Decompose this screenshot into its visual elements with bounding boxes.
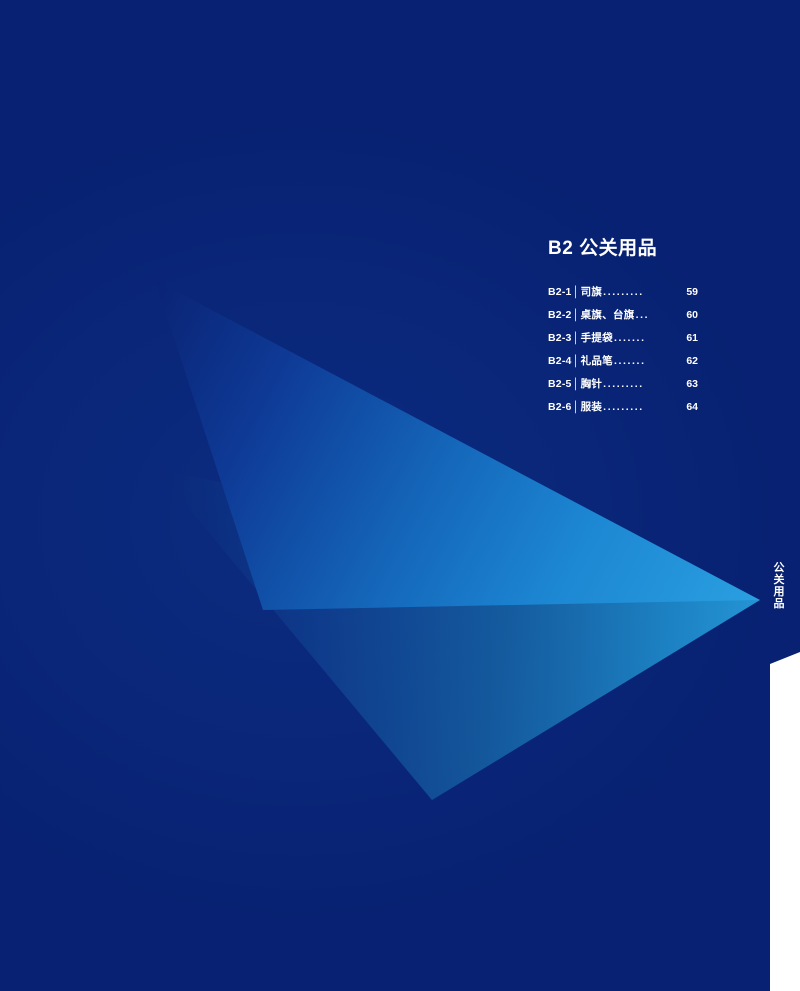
toc-entry-separator: │ <box>572 402 581 413</box>
toc-entry[interactable]: B2-6 │ 服装 ......... 64 <box>548 402 698 425</box>
side-tab-char: 关 <box>771 575 787 587</box>
toc-entry-code: B2-5 <box>548 379 572 390</box>
toc-entry-leader: ......... <box>603 379 685 390</box>
toc-entry-separator: │ <box>572 333 581 344</box>
table-of-contents: B2 公关用品 B2-1 │ 司旗 ......... 59 B2-2 │ 桌旗… <box>548 238 698 425</box>
toc-entry-separator: │ <box>572 310 581 321</box>
toc-entry[interactable]: B2-1 │ 司旗 ......... 59 <box>548 287 698 310</box>
toc-entry-separator: │ <box>572 356 581 367</box>
toc-entry-name: 桌旗、台旗 <box>581 310 635 321</box>
toc-entry[interactable]: B2-3 │ 手提袋 ....... 61 <box>548 333 698 356</box>
toc-entry[interactable]: B2-4 │ 礼品笔 ....... 62 <box>548 356 698 379</box>
toc-entry[interactable]: B2-2 │ 桌旗、台旗 ... 60 <box>548 310 698 333</box>
navy-background-panel <box>0 0 800 991</box>
toc-entry-name: 服装 <box>581 402 603 413</box>
toc-entry-code: B2-4 <box>548 356 572 367</box>
side-tab-char: 品 <box>771 599 787 611</box>
toc-entry-name: 司旗 <box>581 287 603 298</box>
toc-list: B2-1 │ 司旗 ......... 59 B2-2 │ 桌旗、台旗 ... … <box>548 287 698 425</box>
toc-entry-page: 62 <box>686 356 698 367</box>
section-divider-page: B2 公关用品 B2-1 │ 司旗 ......... 59 B2-2 │ 桌旗… <box>0 0 800 991</box>
toc-entry-leader: ... <box>636 310 686 321</box>
toc-entry-page: 59 <box>686 287 698 298</box>
toc-entry-code: B2-6 <box>548 402 572 413</box>
toc-entry-leader: ......... <box>603 402 685 413</box>
toc-entry-separator: │ <box>572 379 581 390</box>
toc-entry-name: 礼品笔 <box>581 356 613 367</box>
toc-entry-code: B2-1 <box>548 287 572 298</box>
toc-entry-code: B2-3 <box>548 333 572 344</box>
toc-entry-page: 60 <box>686 310 698 321</box>
toc-entry-leader: ....... <box>614 333 685 344</box>
toc-entry-separator: │ <box>572 287 581 298</box>
toc-entry-name: 胸针 <box>581 379 603 390</box>
page-title: B2 公关用品 <box>548 238 698 261</box>
toc-entry-page: 64 <box>686 402 698 413</box>
side-tab-char: 用 <box>771 587 787 599</box>
toc-entry-page: 63 <box>686 379 698 390</box>
toc-entry-leader: ......... <box>603 287 685 298</box>
toc-entry-page: 61 <box>686 333 698 344</box>
toc-entry-name: 手提袋 <box>581 333 613 344</box>
toc-entry-leader: ....... <box>614 356 685 367</box>
toc-entry-code: B2-2 <box>548 310 572 321</box>
section-side-tab: 公 关 用 品 <box>771 563 787 611</box>
toc-entry[interactable]: B2-5 │ 胸针 ......... 63 <box>548 379 698 402</box>
